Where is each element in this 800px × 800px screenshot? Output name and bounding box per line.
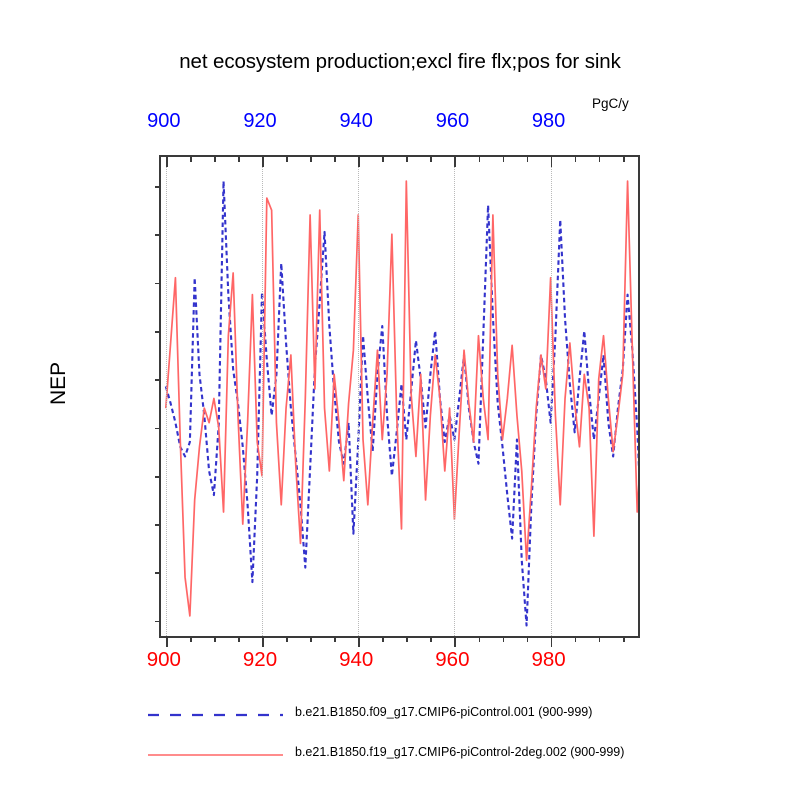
tick-y-0.9 [155,572,161,574]
tick-x-bottom-935 [334,636,336,642]
gridline-x-900 [166,157,167,636]
gridline-x-920 [262,157,263,636]
legend-line-sample-2 [148,752,283,754]
tick-y-1.3 [155,476,161,478]
series-line-1 [166,181,638,625]
tick-y-1.9 [155,331,161,333]
tick-y-2.5 [155,186,161,188]
tick-x-bottom-915 [238,636,240,642]
tick-x-bottom-970 [503,636,505,642]
tick-x-bottom-900 [166,636,168,647]
tick-y-2.3 [155,234,161,236]
legend-entry-1: b.e21.B1850.f09_g17.CMIP6-piControl.001 … [0,700,800,726]
x-tick-label-top-920: 920 [243,110,276,133]
series-line-2 [166,181,638,616]
tick-x-bottom-920 [262,636,264,647]
tick-x-top-910 [214,156,216,162]
legend-label-1: b.e21.B1850.f09_g17.CMIP6-piControl.001 … [295,705,592,719]
tick-x-bottom-975 [527,636,529,642]
legend-line-sample-1 [148,712,283,714]
x-tick-label-top-960: 960 [436,110,469,133]
tick-x-bottom-960 [454,636,456,647]
tick-x-bottom-930 [310,636,312,642]
tick-x-top-985 [575,156,577,162]
chart-page: net ecosystem production;excl fire flx;p… [0,0,800,800]
tick-x-top-945 [382,156,384,162]
tick-y-1.7 [155,379,161,381]
plot-canvas [161,157,638,636]
chart-title: net ecosystem production;excl fire flx;p… [0,50,800,74]
tick-x-top-900 [166,156,168,167]
series-layer [161,157,638,636]
tick-x-top-950 [406,156,408,162]
tick-x-bottom-955 [430,636,432,642]
y-axis-title: NEP [47,362,71,405]
x-tick-label-bottom-920: 920 [243,648,277,672]
tick-x-bottom-995 [623,636,625,642]
x-tick-label-top-940: 940 [340,110,373,133]
tick-y-0.7 [155,621,161,623]
tick-x-top-915 [238,156,240,162]
legend-label-2: b.e21.B1850.f19_g17.CMIP6-piControl-2deg… [295,745,624,759]
tick-x-bottom-905 [190,636,192,642]
x-tick-label-bottom-900: 900 [147,648,181,672]
plot-area [159,155,640,638]
gridline-x-980 [551,157,552,636]
x-tick-label-top-980: 980 [532,110,565,133]
tick-x-top-990 [599,156,601,162]
tick-x-top-980 [551,156,553,167]
units-label: PgC/y [592,96,629,111]
tick-x-top-970 [503,156,505,162]
tick-x-top-965 [479,156,481,162]
tick-x-bottom-950 [406,636,408,642]
x-tick-label-bottom-980: 980 [531,648,565,672]
tick-x-top-925 [286,156,288,162]
gridline-x-940 [358,157,359,636]
legend-entry-2: b.e21.B1850.f19_g17.CMIP6-piControl-2deg… [0,740,800,766]
tick-x-top-975 [527,156,529,162]
gridline-x-960 [454,157,455,636]
tick-x-bottom-985 [575,636,577,642]
tick-y-1.5 [155,428,161,430]
tick-x-bottom-940 [358,636,360,647]
tick-y-2.1 [155,283,161,285]
tick-x-top-940 [358,156,360,167]
tick-x-top-995 [623,156,625,162]
tick-x-top-935 [334,156,336,162]
x-tick-label-bottom-960: 960 [435,648,469,672]
x-tick-label-bottom-940: 940 [339,648,373,672]
x-tick-label-top-900: 900 [147,110,180,133]
tick-x-bottom-925 [286,636,288,642]
tick-x-top-905 [190,156,192,162]
tick-x-bottom-990 [599,636,601,642]
tick-x-top-955 [430,156,432,162]
tick-x-bottom-910 [214,636,216,642]
tick-x-bottom-980 [551,636,553,647]
legend: b.e21.B1850.f09_g17.CMIP6-piControl.001 … [0,700,800,780]
tick-x-top-920 [262,156,264,167]
tick-x-bottom-945 [382,636,384,642]
tick-x-bottom-965 [479,636,481,642]
tick-x-top-930 [310,156,312,162]
tick-x-top-960 [454,156,456,167]
tick-y-1.1 [155,524,161,526]
